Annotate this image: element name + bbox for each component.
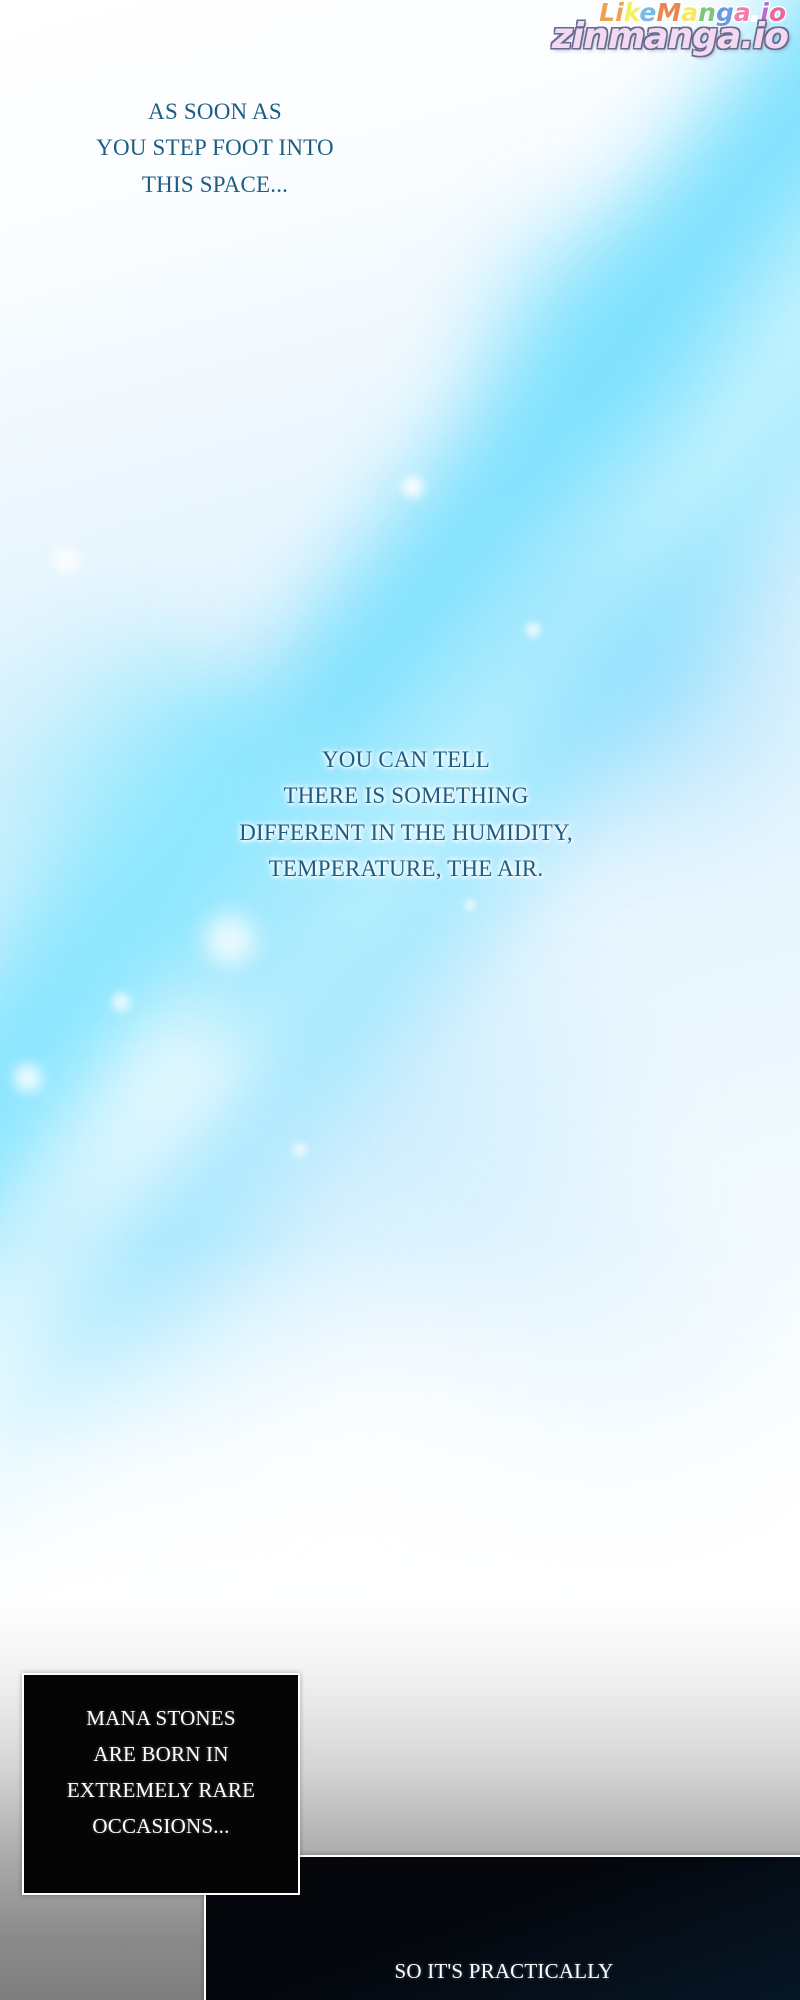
narration-text-intro: AS SOON AS YOU STEP FOOT INTO THIS SPACE… [40, 94, 390, 203]
dialog-panel-mana-stones: MANA STONES ARE BORN IN EXTREMELY RARE O… [22, 1673, 300, 1895]
dialog-panel-practically-text: SO IT'S PRACTICALLY [206, 1953, 800, 1989]
dialog-panel-mana-stones-text: MANA STONES ARE BORN IN EXTREMELY RARE O… [24, 1700, 298, 1844]
narration-text-atmosphere: YOU CAN TELL THERE IS SOMETHING DIFFEREN… [200, 742, 612, 887]
manga-page: LikeManga.io zinmanga.io AS SOON AS YOU … [0, 0, 800, 2000]
